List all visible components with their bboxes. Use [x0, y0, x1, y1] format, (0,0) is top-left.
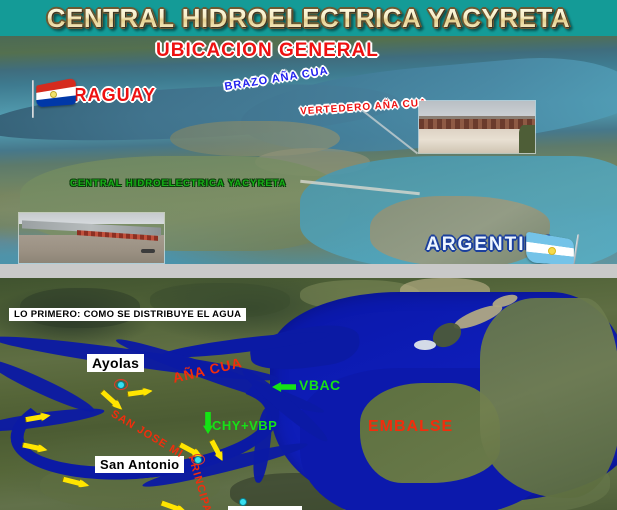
argentina-sun-icon: [548, 247, 556, 255]
label-embalse: EMBALSE: [368, 418, 453, 436]
paraguay-flag: [22, 80, 74, 118]
title-bar: CENTRAL HIDROELECTRICA YACYRETA: [0, 0, 617, 36]
paraguay-flag-emblem-icon: [50, 91, 57, 98]
city-ring-ayolas: [114, 379, 128, 390]
bottom-panel-caption: LO PRIMERO: COMO SE DISTRIBUYE EL AGUA: [9, 308, 246, 321]
reservoir-east-shore: [480, 298, 617, 498]
flag-pole-paraguay: [32, 80, 34, 118]
label-san-antonio: San Antonio: [95, 456, 184, 473]
photo-vegetation: [519, 125, 535, 153]
photo-discharge-water: [419, 129, 535, 153]
bottom-map-panel: LO PRIMERO: COMO SE DISTRIBUYE EL AGUA A…: [0, 278, 617, 510]
page-title: CENTRAL HIDROELECTRICA YACYRETA: [47, 3, 571, 34]
city-ring-san-antonio: [191, 454, 205, 465]
top-map-panel: UBICACION GENERAL PARAGUAY BRAZO AÑA CUA…: [0, 36, 617, 264]
label-chy-vbp: CHY+VBP: [212, 418, 277, 433]
label-central-hidroelectrica-yacyreta: CENTRAL HIDROELECTRICA YACYRETA: [70, 178, 287, 189]
ana-cua-spillway-photo: [418, 100, 536, 154]
label-vbac: VBAC: [299, 377, 341, 393]
ubicacion-general-heading: UBICACION GENERAL: [156, 40, 379, 62]
slide-root: CENTRAL HIDROELECTRICA YACYRETA: [0, 0, 617, 510]
yacyreta-powerhouse-photo: [18, 212, 165, 264]
panel-divider: [0, 264, 617, 278]
label-ituzaingo: Ituzaingo: [228, 506, 302, 510]
city-marker-ituzaingo: [239, 498, 247, 506]
reservoir-island: [414, 340, 436, 350]
photo-boat: [141, 249, 156, 253]
label-ayolas: Ayolas: [87, 354, 144, 372]
argentina-flag: [528, 232, 590, 264]
